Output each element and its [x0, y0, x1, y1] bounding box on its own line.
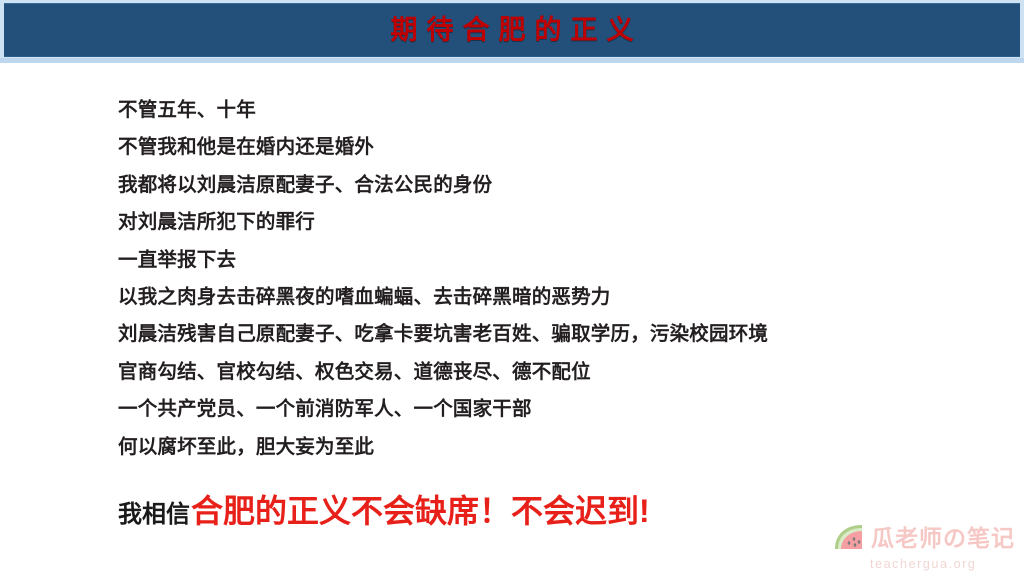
text-line: 官商勾结、官校勾结、权色交易、道德丧尽、德不配位 [118, 354, 978, 391]
text-line: 我都将以刘晨洁原配妻子、合法公民的身份 [118, 167, 978, 204]
text-line: 一个共产党员、一个前消防军人、一个国家干部 [118, 391, 978, 428]
text-line: 以我之肉身去击碎黑夜的嗜血蝙蝠、去击碎黑暗的恶势力 [118, 279, 978, 316]
body-text-block: 不管五年、十年 不管我和他是在婚内还是婚外 我都将以刘晨洁原配妻子、合法公民的身… [118, 92, 978, 466]
closing-statement-highlight: 合肥的正义不会缺席！不会迟到! [191, 486, 650, 532]
watermark-url: teachergua.org [870, 557, 1016, 571]
slide-canvas: 期待合肥的正义 不管五年、十年 不管我和他是在婚内还是婚外 我都将以刘晨洁原配妻… [0, 0, 1024, 576]
watermelon-slice-icon [832, 523, 866, 553]
page-title: 期待合肥的正义 [382, 17, 643, 44]
header-bar: 期待合肥的正义 [4, 3, 1020, 57]
header-underline [0, 58, 1024, 63]
header-band: 期待合肥的正义 [0, 0, 1024, 62]
watermark-brand: 瓜老师の笔记 [871, 527, 1015, 550]
watermark-row: 瓜老师の笔记 [832, 521, 1016, 555]
text-line: 不管五年、十年 [118, 92, 978, 129]
text-line: 何以腐坏至此，胆大妄为至此 [118, 429, 978, 466]
closing-statement-prefix: 我相信 [118, 494, 190, 529]
watermark: 瓜老师の笔记 teachergua.org [832, 521, 1016, 573]
text-line: 一直举报下去 [118, 242, 978, 279]
text-line: 对刘晨洁所犯下的罪行 [118, 204, 978, 241]
text-line: 不管我和他是在婚内还是婚外 [118, 129, 978, 166]
closing-statement: 我相信 合肥的正义不会缺席！不会迟到! [118, 486, 650, 532]
text-line: 刘晨洁残害自己原配妻子、吃拿卡要坑害老百姓、骗取学历，污染校园环境 [118, 316, 978, 353]
